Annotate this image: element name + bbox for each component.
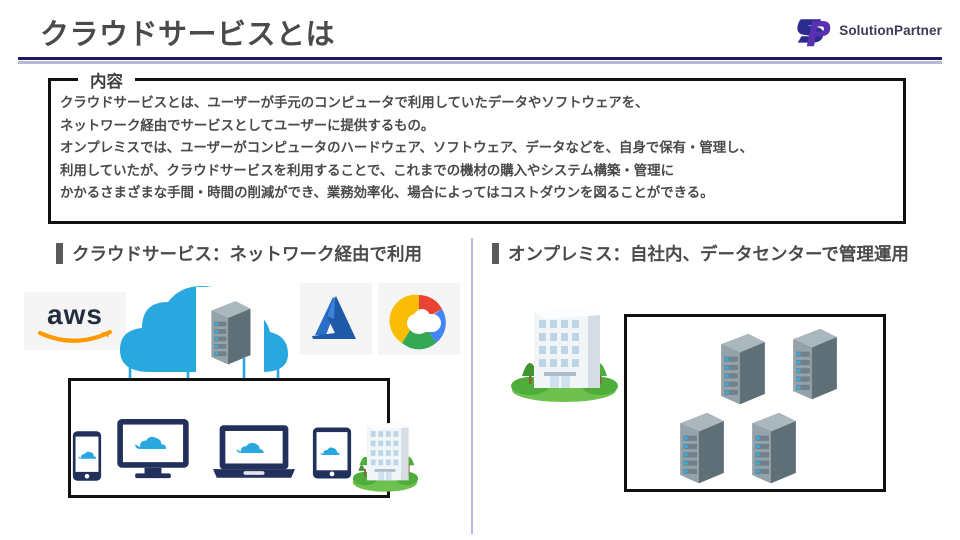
server-rack-icon [672, 404, 730, 493]
brand-logo: SolutionPartner [794, 10, 942, 50]
section-header-onpremise-label: オンプレミス：自社内、データセンターで管理運用 [508, 241, 909, 266]
server-rack-icon [785, 320, 843, 409]
content-line: オンプレミスでは、ユーザーがコンピュータのハードウェア、ソフトウェア、データなど… [60, 137, 900, 160]
laptop-device-icon [212, 424, 296, 485]
svg-text:aws: aws [47, 299, 103, 330]
section-marker-bar [56, 243, 63, 264]
section-header-cloud-label: クラウドサービス：ネットワーク経由で利用 [72, 241, 422, 266]
google-cloud-logo [378, 283, 460, 355]
azure-logo [300, 283, 372, 355]
page-title: クラウドサービスとは [40, 11, 335, 53]
content-body: クラウドサービスとは、ユーザーが手元のコンピュータで利用していたデータやソフトウ… [60, 92, 900, 205]
sp-monogram-icon [794, 12, 834, 48]
section-header-onpremise: オンプレミス：自社内、データセンターで管理運用 [492, 241, 909, 266]
tablet-device-icon [312, 426, 352, 485]
device-row [72, 418, 386, 494]
server-rack-icon [713, 325, 771, 414]
section-marker-bar [492, 243, 499, 264]
office-building-icon [350, 412, 420, 497]
header-divider-light [18, 61, 942, 64]
content-line: ネットワーク経由でサービスとしてユーザーに提供するもの。 [60, 115, 900, 138]
smartphone-device-icon [72, 430, 102, 487]
panel-divider [471, 238, 473, 534]
desktop-monitor-device-icon [116, 418, 190, 485]
content-box-legend: 内容 [78, 68, 135, 92]
section-header-cloud: クラウドサービス：ネットワーク経由で利用 [56, 241, 422, 266]
brand-wordmark: SolutionPartner [839, 23, 942, 38]
aws-logo: aws [24, 292, 126, 350]
content-line: かかるさまざまな手間・時間の削減ができ、業務効率化、場合によってはコストダウンを… [60, 182, 900, 205]
content-line: 利用していたが、クラウドサービスを利用することで、これまでの機材の購入やシステム… [60, 160, 900, 183]
header-divider-dark [18, 57, 942, 60]
office-building-icon [508, 298, 620, 402]
content-line: クラウドサービスとは、ユーザーが手元のコンピュータで利用していたデータやソフトウ… [60, 92, 900, 115]
server-rack-icon [744, 404, 802, 493]
